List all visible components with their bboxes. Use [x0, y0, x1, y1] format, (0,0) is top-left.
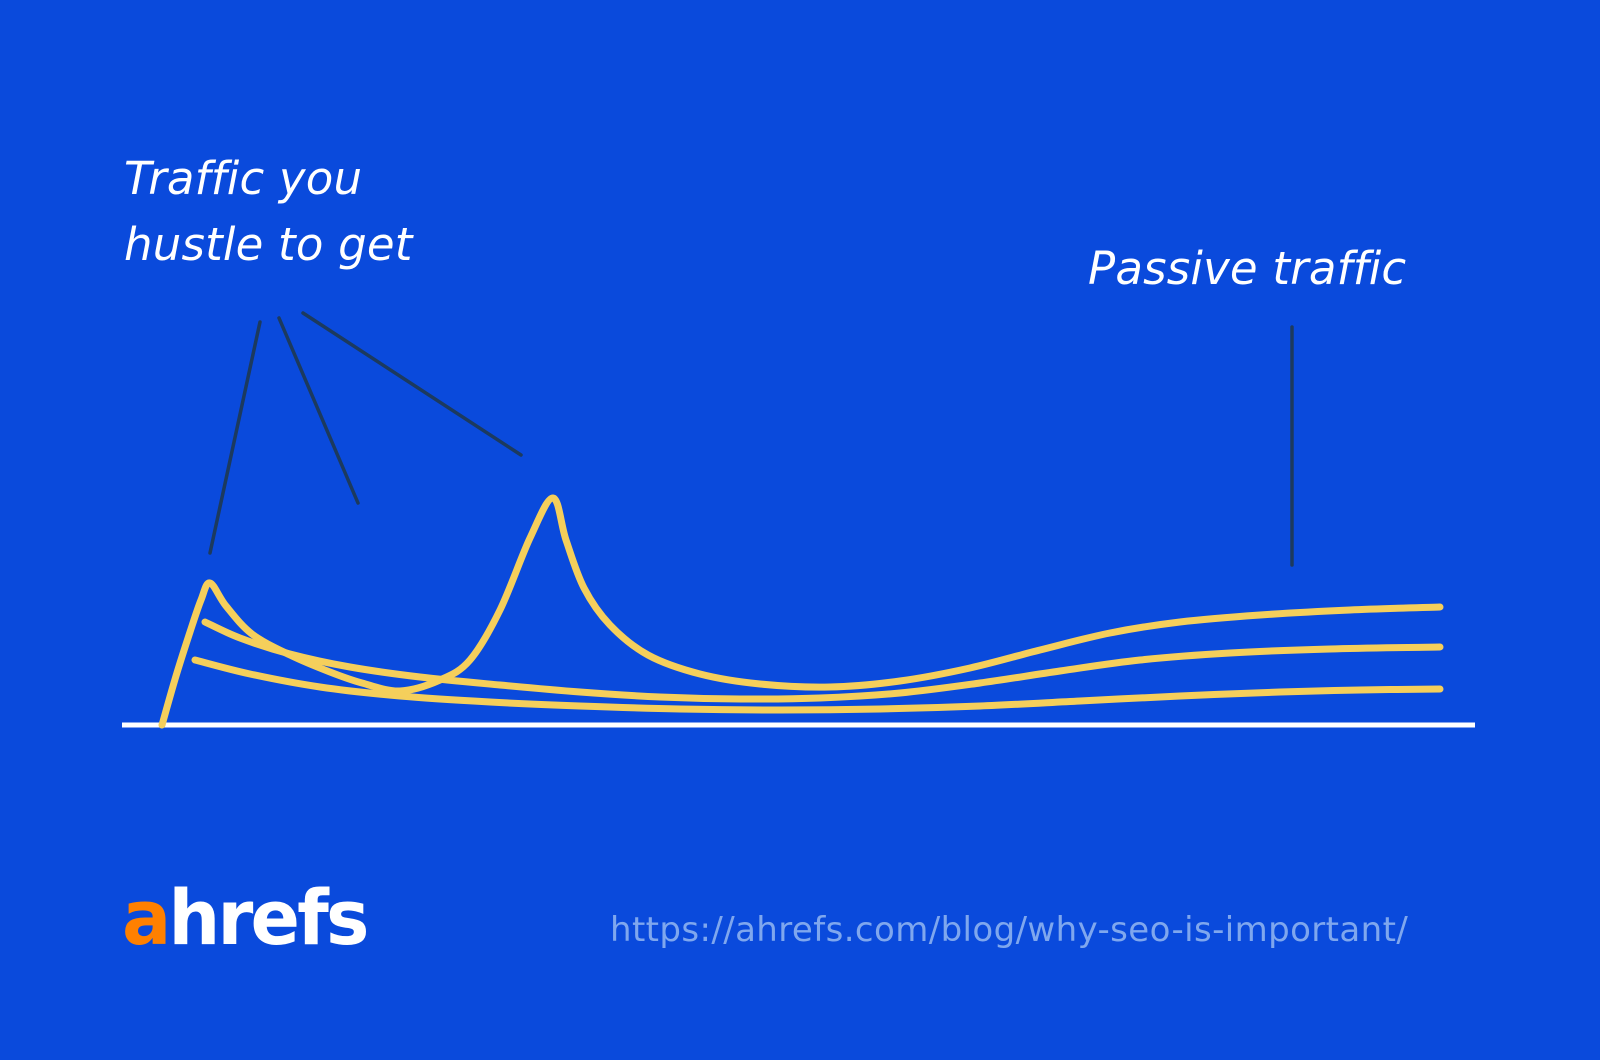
logo-wordmark: hrefs: [168, 873, 366, 962]
ahrefs-logo[interactable]: ahrefs: [122, 880, 367, 956]
leader-line-2: [279, 318, 358, 503]
annotation-label-hustle: Traffic you hustle to get: [124, 146, 413, 278]
leader-line-1: [210, 322, 260, 553]
source-url[interactable]: https://ahrefs.com/blog/why-seo-is-impor…: [610, 910, 1408, 950]
series-group: [162, 498, 1440, 725]
leader-lines-left: [210, 313, 521, 553]
illustration-canvas: Traffic you hustle to get Passive traffi…: [0, 0, 1600, 1060]
leader-line-3: [303, 313, 521, 455]
logo-letter-a: a: [122, 873, 168, 962]
annotation-label-passive: Passive traffic: [1088, 236, 1406, 302]
